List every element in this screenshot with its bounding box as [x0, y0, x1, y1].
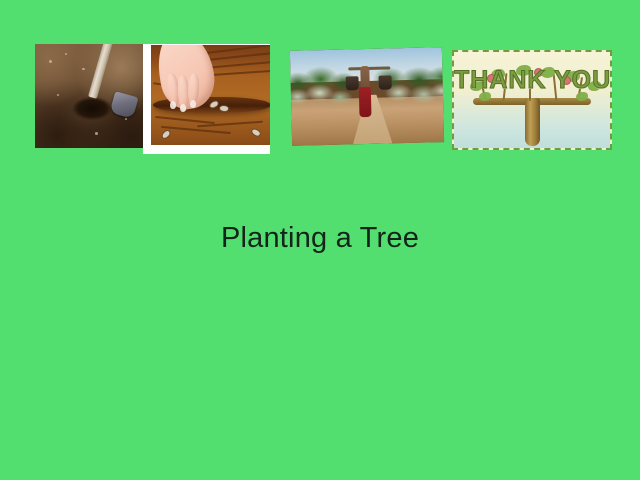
shovel-image-content — [35, 44, 145, 148]
water-bucket — [379, 75, 392, 89]
slide-canvas: THANK YOU Planting a Tree — [0, 0, 640, 480]
farmer-image-content — [290, 47, 444, 146]
hand-seed-illustration — [151, 45, 270, 145]
soil-speck — [57, 94, 59, 96]
thank-you-text: THANK YOU — [454, 66, 610, 95]
image-thank-you-tree[interactable]: THANK YOU — [452, 50, 612, 150]
water-bucket — [345, 76, 358, 90]
image-shovel-digging[interactable] — [35, 44, 145, 148]
soil-speck — [125, 118, 127, 120]
farmer-garment — [359, 87, 372, 117]
fingernail — [170, 101, 176, 109]
fingernail — [180, 104, 186, 112]
soil-speck — [49, 60, 52, 63]
soil-speck — [65, 53, 67, 55]
soil-speck — [82, 68, 85, 70]
fingernail — [190, 100, 196, 108]
tree-trunk — [525, 98, 540, 146]
image-hand-sowing-seed[interactable] — [143, 44, 270, 154]
page-title: Planting a Tree — [0, 218, 640, 258]
image-farmer-carrying-water[interactable] — [290, 47, 444, 146]
soil-speck — [95, 132, 98, 135]
